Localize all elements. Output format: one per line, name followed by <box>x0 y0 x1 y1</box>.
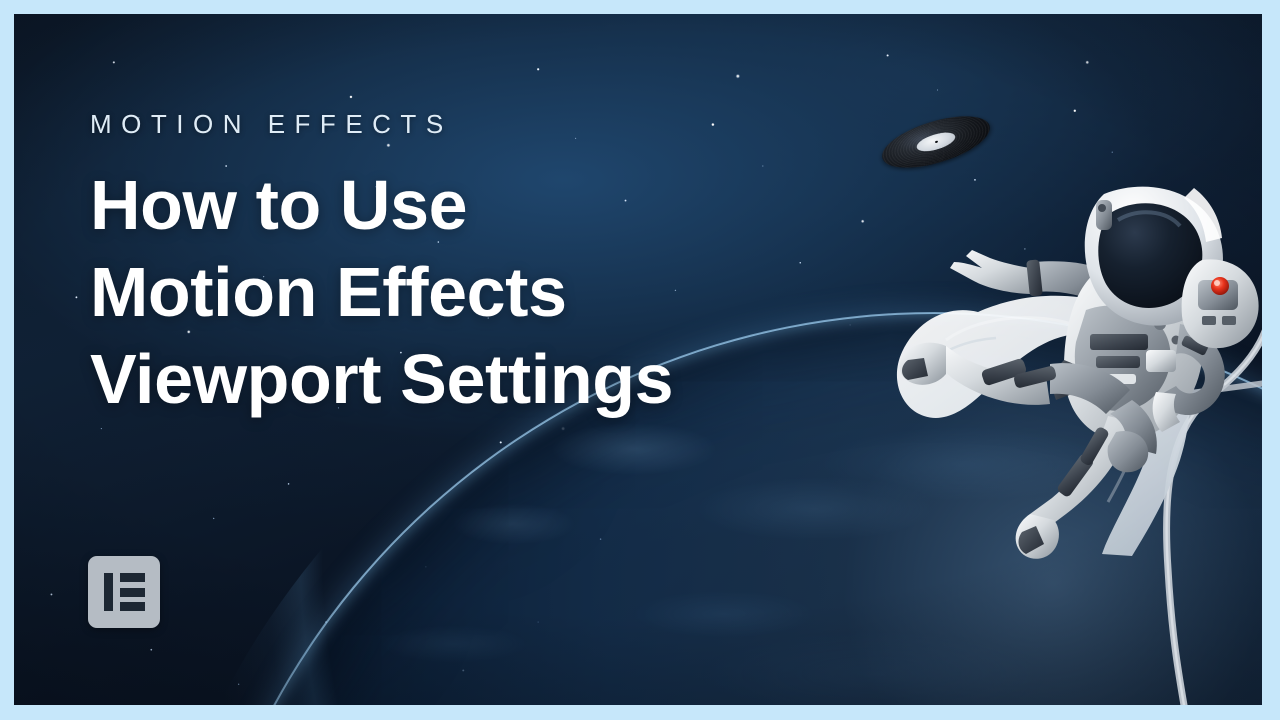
outer-border-frame: MOTION EFFECTS How to Use Motion Effects… <box>0 0 1280 720</box>
headline-line-1: How to Use <box>90 162 870 249</box>
logo-horizontal-bar-3 <box>120 602 145 611</box>
logo-horizontal-bar-2 <box>120 588 145 597</box>
video-thumbnail-stage: MOTION EFFECTS How to Use Motion Effects… <box>14 14 1262 705</box>
eyebrow-label: MOTION EFFECTS <box>90 109 453 140</box>
elementor-logo <box>88 556 160 628</box>
logo-horizontal-bar-1 <box>120 573 145 582</box>
astronaut-figure <box>850 164 1262 564</box>
page-title: How to Use Motion Effects Viewport Setti… <box>90 162 870 423</box>
astronaut-shoulder-pack <box>1182 259 1259 348</box>
headline-line-2: Motion Effects <box>90 249 870 336</box>
headline-line-3: Viewport Settings <box>90 336 870 423</box>
logo-vertical-bar <box>104 573 113 611</box>
